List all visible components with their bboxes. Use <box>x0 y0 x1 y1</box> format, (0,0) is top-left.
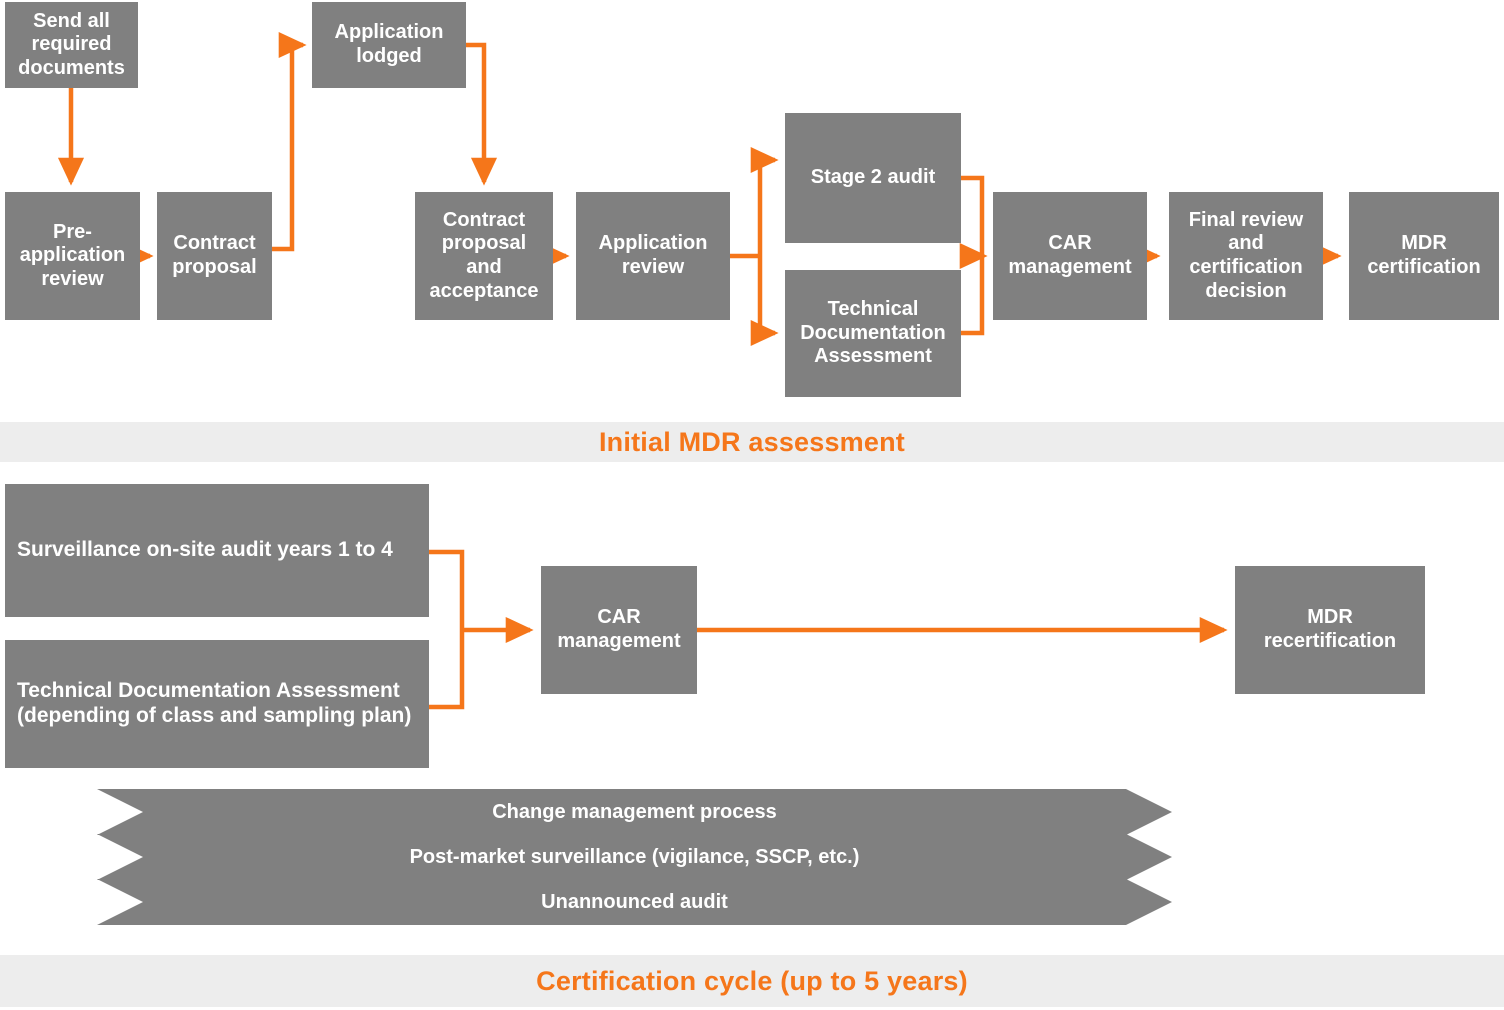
chevron-unannounced-audit[interactable]: Unannounced audit <box>97 879 1172 925</box>
chevron-label: Change management process <box>492 801 777 824</box>
box-cycle-technical-documentation-assessment[interactable]: Technical Documentation Assessment (depe… <box>5 640 429 768</box>
box-car-management[interactable]: CAR management <box>993 192 1147 320</box>
chevron-post-market-surveillance[interactable]: Post-market surveillance (vigilance, SSC… <box>97 834 1172 880</box>
arrow-contract-to-lodged <box>272 45 303 249</box>
chevron-label: Unannounced audit <box>541 891 728 914</box>
box-technical-documentation-assessment[interactable]: Technical Documentation Assessment <box>785 270 961 397</box>
box-surveillance-audit[interactable]: Surveillance on-site audit years 1 to 4 <box>5 484 429 617</box>
chevron-label: Post-market surveillance (vigilance, SSC… <box>410 846 860 869</box>
band-initial-mdr-assessment-label: Initial MDR assessment <box>599 427 905 458</box>
box-mdr-certification[interactable]: MDR certification <box>1349 192 1499 320</box>
band-initial-mdr-assessment: Initial MDR assessment <box>0 422 1504 462</box>
box-contract-proposal[interactable]: Contract proposal <box>157 192 272 320</box>
box-application-lodged[interactable]: Application lodged <box>312 2 466 88</box>
box-mdr-recertification[interactable]: MDR recertification <box>1235 566 1425 694</box>
band-certification-cycle-label: Certification cycle (up to 5 years) <box>536 966 968 997</box>
box-contract-proposal-acceptance[interactable]: Contract proposal and acceptance <box>415 192 553 320</box>
box-application-review[interactable]: Application review <box>576 192 730 320</box>
arrow-lodged-to-acceptance <box>466 45 484 182</box>
arrow-cycle-merge-bar <box>429 552 462 707</box>
box-stage-2-audit[interactable]: Stage 2 audit <box>785 113 961 243</box>
chevron-change-management-process[interactable]: Change management process <box>97 789 1172 835</box>
band-certification-cycle: Certification cycle (up to 5 years) <box>0 955 1504 1007</box>
box-cycle-car-management[interactable]: CAR management <box>541 566 697 694</box>
box-pre-application-review[interactable]: Pre- application review <box>5 192 140 320</box>
box-send-documents[interactable]: Send all required documents <box>5 2 138 88</box>
arrow-merge-bar <box>961 178 982 333</box>
flowchart-canvas: Send all required documents Pre- applica… <box>0 0 1504 1010</box>
box-final-review[interactable]: Final review and certification decision <box>1169 192 1323 320</box>
